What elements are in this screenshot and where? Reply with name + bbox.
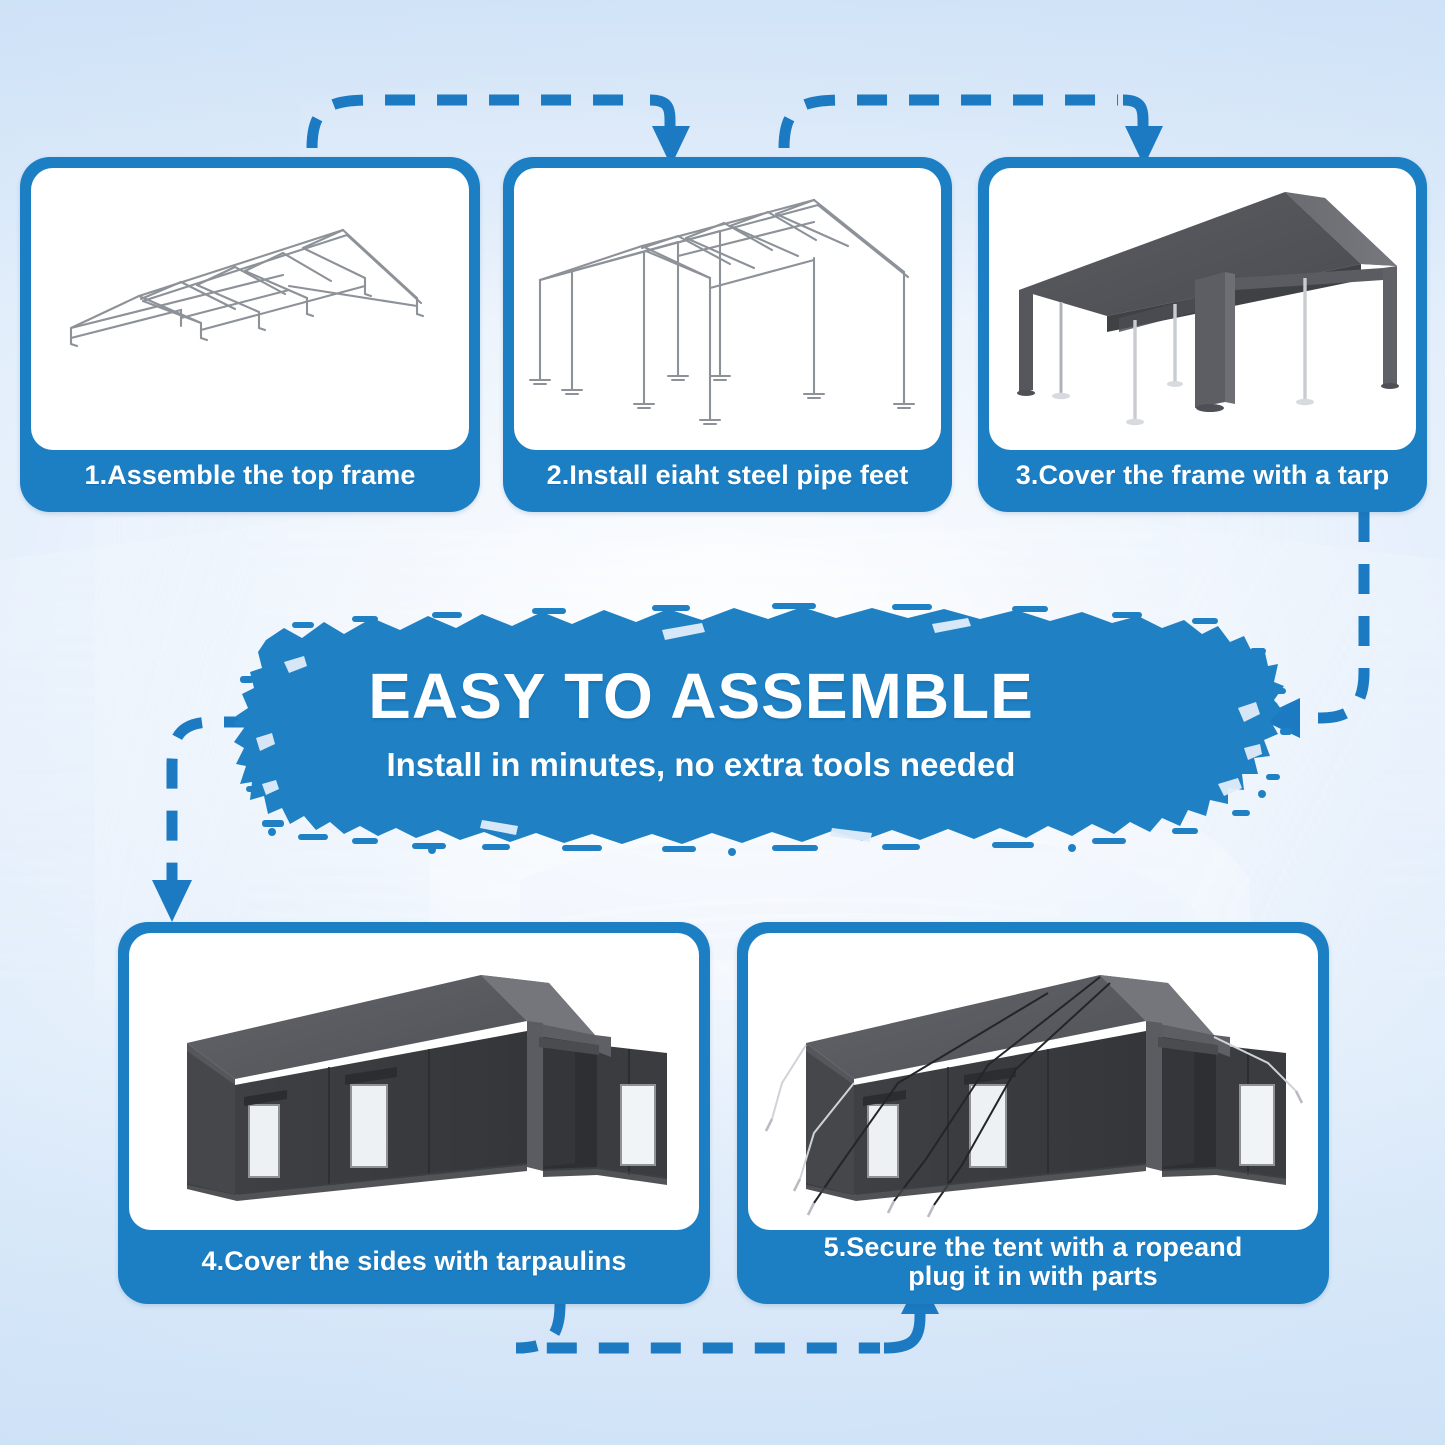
step-5-illustration-area: [748, 933, 1318, 1230]
step-card-2[interactable]: 2.Install eiaht steel pipe feet: [503, 157, 952, 512]
banner-subtitle: Install in minutes, no extra tools neede…: [387, 748, 1016, 781]
step-1-caption: 1.Assemble the top frame: [20, 439, 480, 512]
step-2-illustration-area: [514, 168, 941, 450]
easy-to-assemble-banner: EASY TO ASSEMBLE Install in minutes, no …: [232, 588, 1302, 856]
tent-with-roof-tarp-art: [989, 168, 1416, 450]
banner-title: EASY TO ASSEMBLE: [368, 664, 1034, 728]
tent-frame-with-legs-wireframe-art: [514, 168, 941, 450]
step-card-1[interactable]: 1.Assemble the top frame: [20, 157, 480, 512]
step-4-caption: 4.Cover the sides with tarpaulins: [118, 1219, 710, 1304]
window-right: [621, 1085, 655, 1165]
banner-text-block: EASY TO ASSEMBLE Install in minutes, no …: [232, 588, 1302, 856]
step-card-5[interactable]: 5.Secure the tent with a ropeand plug it…: [737, 922, 1329, 1304]
step-card-3[interactable]: 3.Cover the frame with a tarp: [978, 157, 1427, 512]
infographic-canvas: 1.Assemble the top frame: [0, 0, 1445, 1445]
step-1-illustration-area: [31, 168, 469, 450]
step-3-illustration-area: [989, 168, 1416, 450]
step-3-caption: 3.Cover the frame with a tarp: [978, 439, 1427, 512]
step-5-caption: 5.Secure the tent with a ropeand plug it…: [737, 1219, 1329, 1304]
tent-with-side-tarps-art: [129, 933, 699, 1230]
window-right: [1240, 1085, 1274, 1165]
step-2-caption: 2.Install eiaht steel pipe feet: [503, 439, 952, 512]
step-4-illustration-area: [129, 933, 699, 1230]
tent-with-ropes-and-stakes-art: [748, 933, 1318, 1230]
tent-top-frame-wireframe-art: [31, 168, 469, 450]
step-card-4[interactable]: 4.Cover the sides with tarpaulins: [118, 922, 710, 1304]
